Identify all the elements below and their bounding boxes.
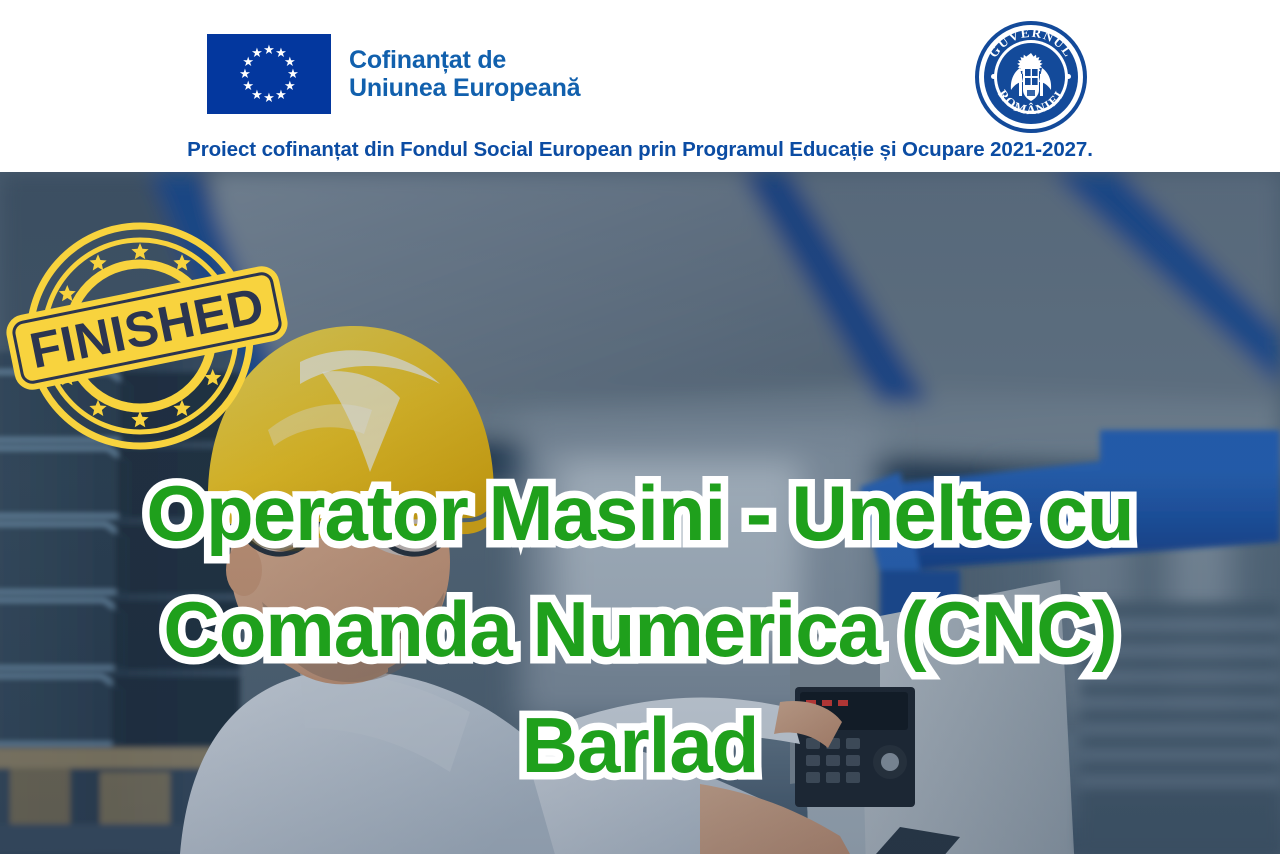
- eu-cofinancing-logo: ★★★★★★★★★★★★ Cofinanțat de Uniunea Europ…: [207, 34, 580, 114]
- eu-star: ★: [275, 89, 287, 101]
- eu-star: ★: [242, 80, 254, 92]
- eu-star: ★: [263, 44, 275, 56]
- eu-flag-icon: ★★★★★★★★★★★★: [207, 34, 331, 114]
- eu-star: ★: [263, 92, 275, 104]
- romanian-government-seal-icon: GUVERNUL ROMÂNIEI: [975, 21, 1087, 133]
- hero-title: Operator Masini - Unelte cu Operator Mas…: [0, 455, 1280, 803]
- hero-title-line-1: Operator Masini - Unelte cu Operator Mas…: [0, 455, 1280, 571]
- eu-star: ★: [251, 47, 263, 59]
- eagle-emblem-icon: [1008, 50, 1054, 104]
- header-bar: ★★★★★★★★★★★★ Cofinanțat de Uniunea Europ…: [0, 0, 1280, 172]
- eu-star: ★: [239, 68, 251, 80]
- funding-statement: Proiect cofinanțat din Fondul Social Eur…: [0, 138, 1280, 162]
- eu-logo-line2: Uniunea Europeană: [349, 74, 580, 102]
- hero-title-line-3: Barlad Barlad: [0, 687, 1280, 803]
- hero-title-line-2: Comanda Numerica (CNC) Comanda Numerica …: [0, 571, 1280, 687]
- eu-logo-line1: Cofinanțat de: [349, 46, 580, 74]
- seal-dot-left: [991, 74, 996, 79]
- poster-page: ★★★★★★★★★★★★ Cofinanțat de Uniunea Europ…: [0, 0, 1280, 854]
- eu-logo-text: Cofinanțat de Uniunea Europeană: [349, 46, 580, 102]
- seal-dot-right: [1066, 74, 1071, 79]
